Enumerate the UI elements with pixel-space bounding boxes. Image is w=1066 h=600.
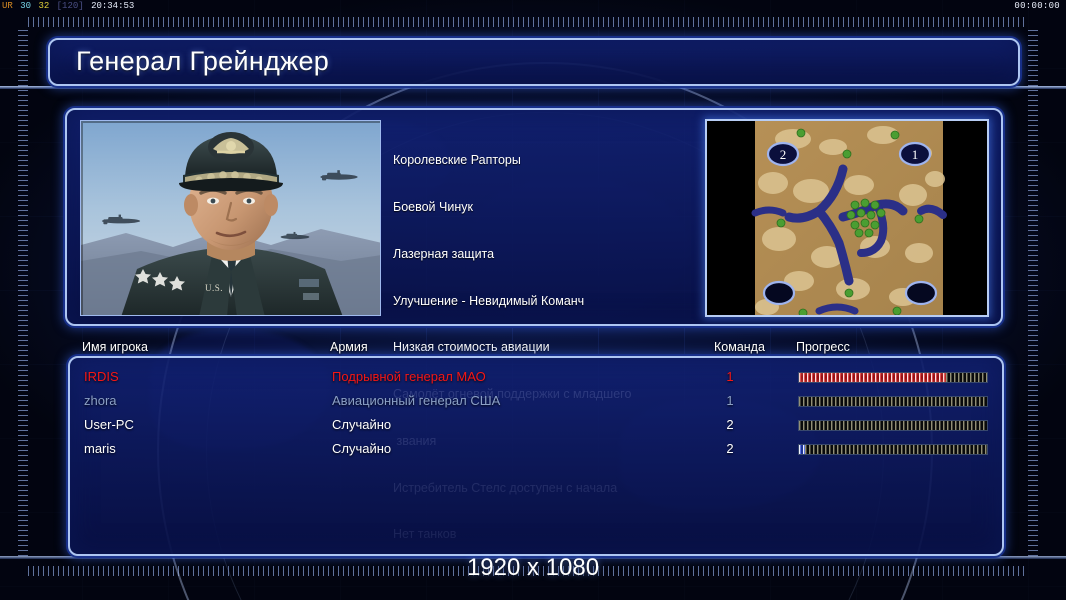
player-army[interactable]: Подрывной генерал МАО [332,369,486,384]
progress-fill [799,373,946,382]
column-header-army: Армия [330,340,368,354]
svg-text:1: 1 [912,147,919,162]
status-bar-left: UR 30 32 [120] 20:34:53 [1,0,135,13]
progress-remainder [799,397,987,406]
game-lobby-screen: UR 30 32 [120] 20:34:53 00:00:00 Генерал… [0,0,1066,600]
resolution-label: 1920 x 1080 [0,554,1066,582]
ruler-tick-left [18,30,28,560]
column-header-name: Имя игрока [82,340,148,354]
player-team[interactable]: 1 [716,393,744,408]
svg-text:U.S.: U.S. [205,283,223,293]
ability-item: Лазерная защита [393,247,723,263]
player-name: zhora [84,393,117,408]
general-portrait: U.S. [80,120,381,316]
match-clock: 00:00:00 [1014,0,1060,13]
player-progress-bar [798,396,988,407]
general-info-panel: U.S. [65,108,1003,326]
ability-item: Боевой Чинук [393,200,723,216]
player-table-header: Имя игрока Армия Команда Прогресс [68,340,1004,358]
player-team[interactable]: 1 [716,369,744,384]
table-row[interactable]: maris Случайно 2 [70,438,1006,462]
column-header-team: Команда [714,340,765,354]
player-team[interactable]: 2 [716,417,744,432]
player-army[interactable]: Случайно [332,417,391,432]
ruler-tick-right [1028,30,1038,560]
player-army[interactable]: Случайно [332,441,391,456]
player-table-panel: IRDIS Подрывной генерал МАО 1 zhora Авиа… [68,356,1004,556]
player-army[interactable]: Авиационный генерал США [332,393,500,408]
progress-remainder [946,373,987,382]
map-preview[interactable]: 2 1 [705,119,989,317]
table-row[interactable]: IRDIS Подрывной генерал МАО 1 [70,366,1006,390]
map-preview-image: 2 1 [707,121,987,317]
player-name: maris [84,441,116,456]
title-panel: Генерал Грейнджер [48,38,1020,86]
player-progress-bar [798,444,988,455]
table-row[interactable]: User-PC Случайно 2 [70,414,1006,438]
player-progress-bar [798,420,988,431]
player-name: IRDIS [84,369,119,384]
cap-insignia [208,132,254,162]
progress-remainder [805,445,987,454]
ability-item: Королевские Рапторы [393,153,723,169]
player-team[interactable]: 2 [716,441,744,456]
player-progress-bar [798,372,988,383]
status-token-ur: UR [1,1,14,11]
status-token-ping: 32 [37,1,50,11]
page-title: Генерал Грейнджер [76,46,329,77]
status-token-time: 20:34:53 [90,1,135,11]
progress-remainder [799,421,987,430]
status-token-bracket: [120] [56,1,85,11]
player-name: User-PC [84,417,134,432]
ability-item: Улучшение - Невидимый Команч [393,294,723,310]
status-token-fps: 30 [19,1,32,11]
general-portrait-image: U.S. [81,121,381,316]
svg-text:2: 2 [780,147,787,162]
highlight-band [0,86,1066,89]
ruler-tick-top [28,17,1028,27]
status-bar: UR 30 32 [120] 20:34:53 00:00:00 [0,0,1066,13]
column-header-progress: Прогресс [796,340,850,354]
table-row[interactable]: zhora Авиационный генерал США 1 [70,390,1006,414]
